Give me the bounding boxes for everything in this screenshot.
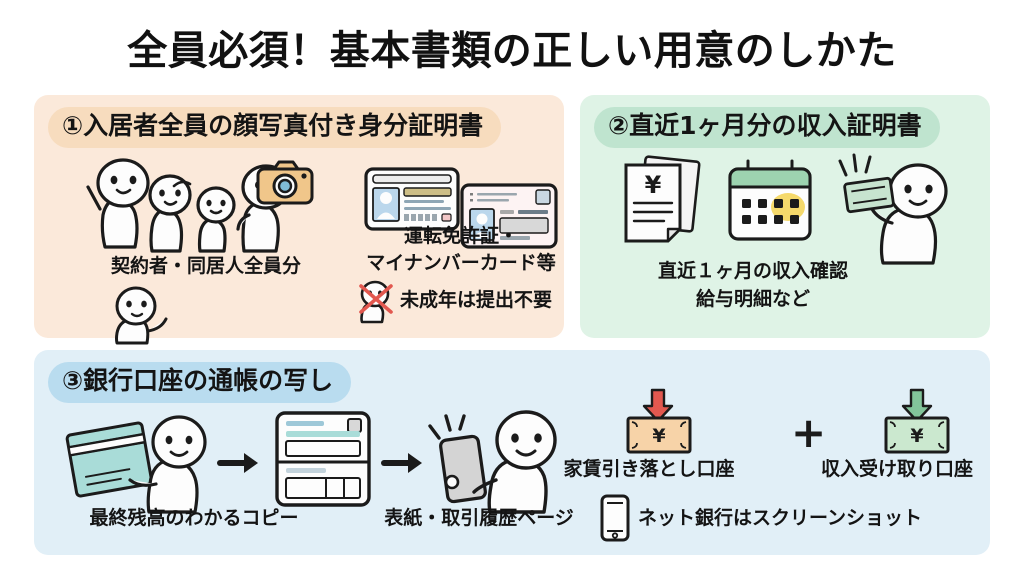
- card-3-caption-cover-history: 表紙・取引履歴ページ: [354, 507, 604, 531]
- card-identity-documents: ①入居者全員の顔写真付き身分証明書: [34, 95, 564, 338]
- calendar-icon: [726, 157, 816, 245]
- svg-text:¥: ¥: [652, 425, 665, 447]
- card-3-caption-debit-account: 家賃引き落とし口座: [534, 458, 764, 482]
- arrow-right-icon: [218, 450, 262, 476]
- plus-icon: +: [791, 412, 826, 454]
- card-1-caption-minor: 未成年は提出不要: [400, 289, 580, 313]
- card-2-caption-period: 直近１ヶ月の収入確認: [588, 260, 918, 284]
- person-holding-money-icon: [830, 153, 970, 263]
- camera-icon: [256, 159, 314, 207]
- payslip-documents-icon: ¥: [620, 157, 712, 249]
- card-1-heading: ①入居者全員の顔写真付き身分証明書: [48, 107, 501, 148]
- smartphone-icon: [600, 494, 630, 542]
- svg-text:¥: ¥: [910, 425, 923, 447]
- card-2-caption-payslip: 給与明細など: [588, 288, 918, 312]
- page-title: 全員必須！基本書類の正しい用意のしかた: [0, 18, 1024, 76]
- id-card-icon: [364, 167, 460, 231]
- card-income-proof: ②直近1ヶ月分の収入証明書 ¥: [580, 95, 990, 338]
- banknote-orange-icon: ¥: [626, 416, 692, 454]
- card-3-caption-income-account: 収入受け取り口座: [782, 458, 1012, 482]
- infographic-page: 全員必須！基本書類の正しい用意のしかた ①入居者全員の顔写真付き身分証明書: [0, 0, 1024, 571]
- card-2-heading: ②直近1ヶ月分の収入証明書: [594, 107, 940, 148]
- card-1-caption-members: 契約者・同居人全員分: [86, 255, 326, 279]
- pointing-person-icon: [106, 287, 186, 343]
- svg-text:¥: ¥: [645, 171, 662, 199]
- card-1-caption-mynumber: マイナンバーカード等: [336, 252, 586, 276]
- card-3-caption-balance-copy: 最終残高のわかるコピー: [54, 507, 334, 531]
- card-1-caption-license: 運転免許証・: [346, 225, 576, 249]
- open-passbook-icon: [274, 410, 372, 508]
- card-bank-passbook: ③銀行口座の通帳の写し: [34, 350, 990, 555]
- card-3-heading: ③銀行口座の通帳の写し: [48, 362, 351, 403]
- card-3-caption-netbank: ネット銀行はスクリーンショット: [638, 507, 998, 531]
- banknote-green-icon: ¥: [884, 416, 950, 454]
- no-minor-icon: [356, 280, 398, 322]
- person-holding-passbook-icon: [64, 412, 214, 512]
